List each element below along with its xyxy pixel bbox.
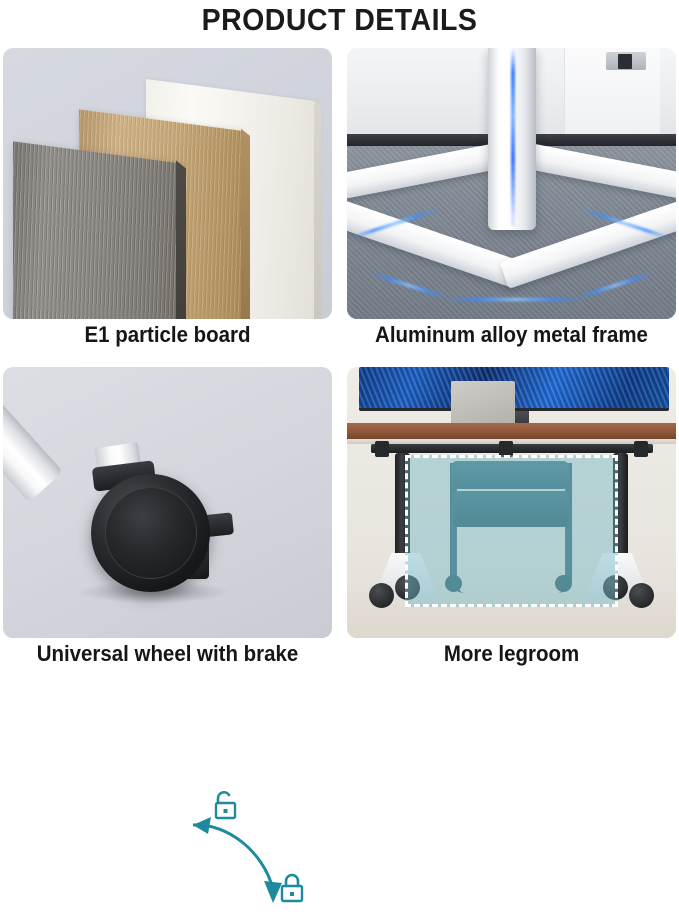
board-stack-icon bbox=[3, 48, 332, 319]
card-more-legroom[interactable]: More legroom bbox=[347, 367, 676, 638]
laptop-icon bbox=[451, 381, 515, 427]
curved-arrow-icon bbox=[181, 807, 291, 917]
wall-socket-icon bbox=[606, 52, 646, 70]
card-particle-board[interactable]: E1 particle board bbox=[3, 48, 332, 319]
metal-frame-icon bbox=[347, 48, 676, 319]
card-universal-wheel[interactable]: Universal wheel with brake bbox=[3, 367, 332, 638]
legroom-highlight-area bbox=[405, 455, 618, 607]
frame-column bbox=[488, 48, 536, 230]
legroom-icon bbox=[347, 367, 676, 638]
desk-top bbox=[347, 423, 676, 439]
product-details-grid: E1 particle board Aluminum alloy meta bbox=[3, 48, 676, 670]
caption-universal-wheel: Universal wheel with brake bbox=[15, 641, 321, 667]
unlock-icon bbox=[210, 789, 240, 821]
glow-accent bbox=[443, 298, 588, 301]
caption-metal-frame: Aluminum alloy metal frame bbox=[359, 322, 665, 348]
card-metal-frame[interactable]: Aluminum alloy metal frame bbox=[347, 48, 676, 319]
lock-icon bbox=[277, 872, 307, 904]
caster-wheel-icon bbox=[3, 367, 332, 638]
caption-particle-board: E1 particle board bbox=[15, 322, 321, 348]
caption-more-legroom: More legroom bbox=[359, 641, 665, 667]
wheel-hub bbox=[105, 487, 197, 579]
board-gray bbox=[13, 141, 176, 319]
page-title: PRODUCT DETAILS bbox=[27, 2, 652, 38]
